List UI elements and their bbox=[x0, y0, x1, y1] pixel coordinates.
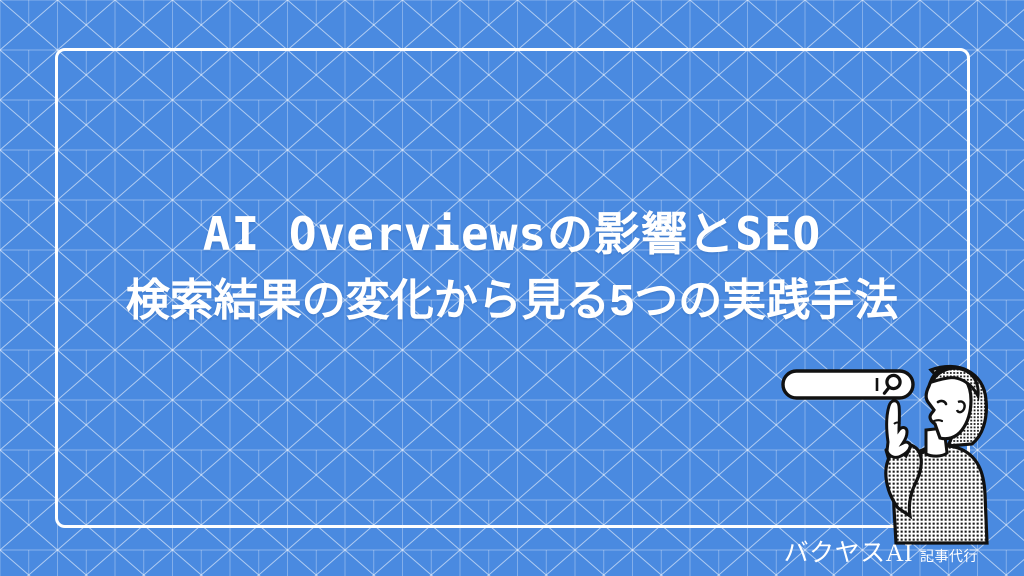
title-block: AI Overviewsの影響とSEO 検索結果の変化から見る5つの実践手法 bbox=[0, 206, 1024, 328]
search-bar-graphic bbox=[783, 371, 913, 398]
brand-lockup: バクヤスAI 記事代行 bbox=[784, 541, 978, 566]
thumbnail-canvas: AI Overviewsの影響とSEO 検索結果の変化から見る5つの実践手法 bbox=[0, 0, 1024, 576]
brand-name: バクヤスAI bbox=[784, 541, 913, 566]
person-hand-pointing bbox=[887, 401, 911, 458]
person-ear bbox=[957, 401, 965, 412]
brand-suffix: 記事代行 bbox=[920, 549, 978, 563]
person-mouth bbox=[934, 420, 942, 421]
illustration-svg bbox=[776, 358, 1004, 543]
person-pointing-at-search-bar-illustration bbox=[776, 358, 1004, 543]
title-line-1: AI Overviewsの影響とSEO bbox=[56, 206, 968, 262]
title-line-2: 検索結果の変化から見る5つの実践手法 bbox=[56, 274, 968, 328]
